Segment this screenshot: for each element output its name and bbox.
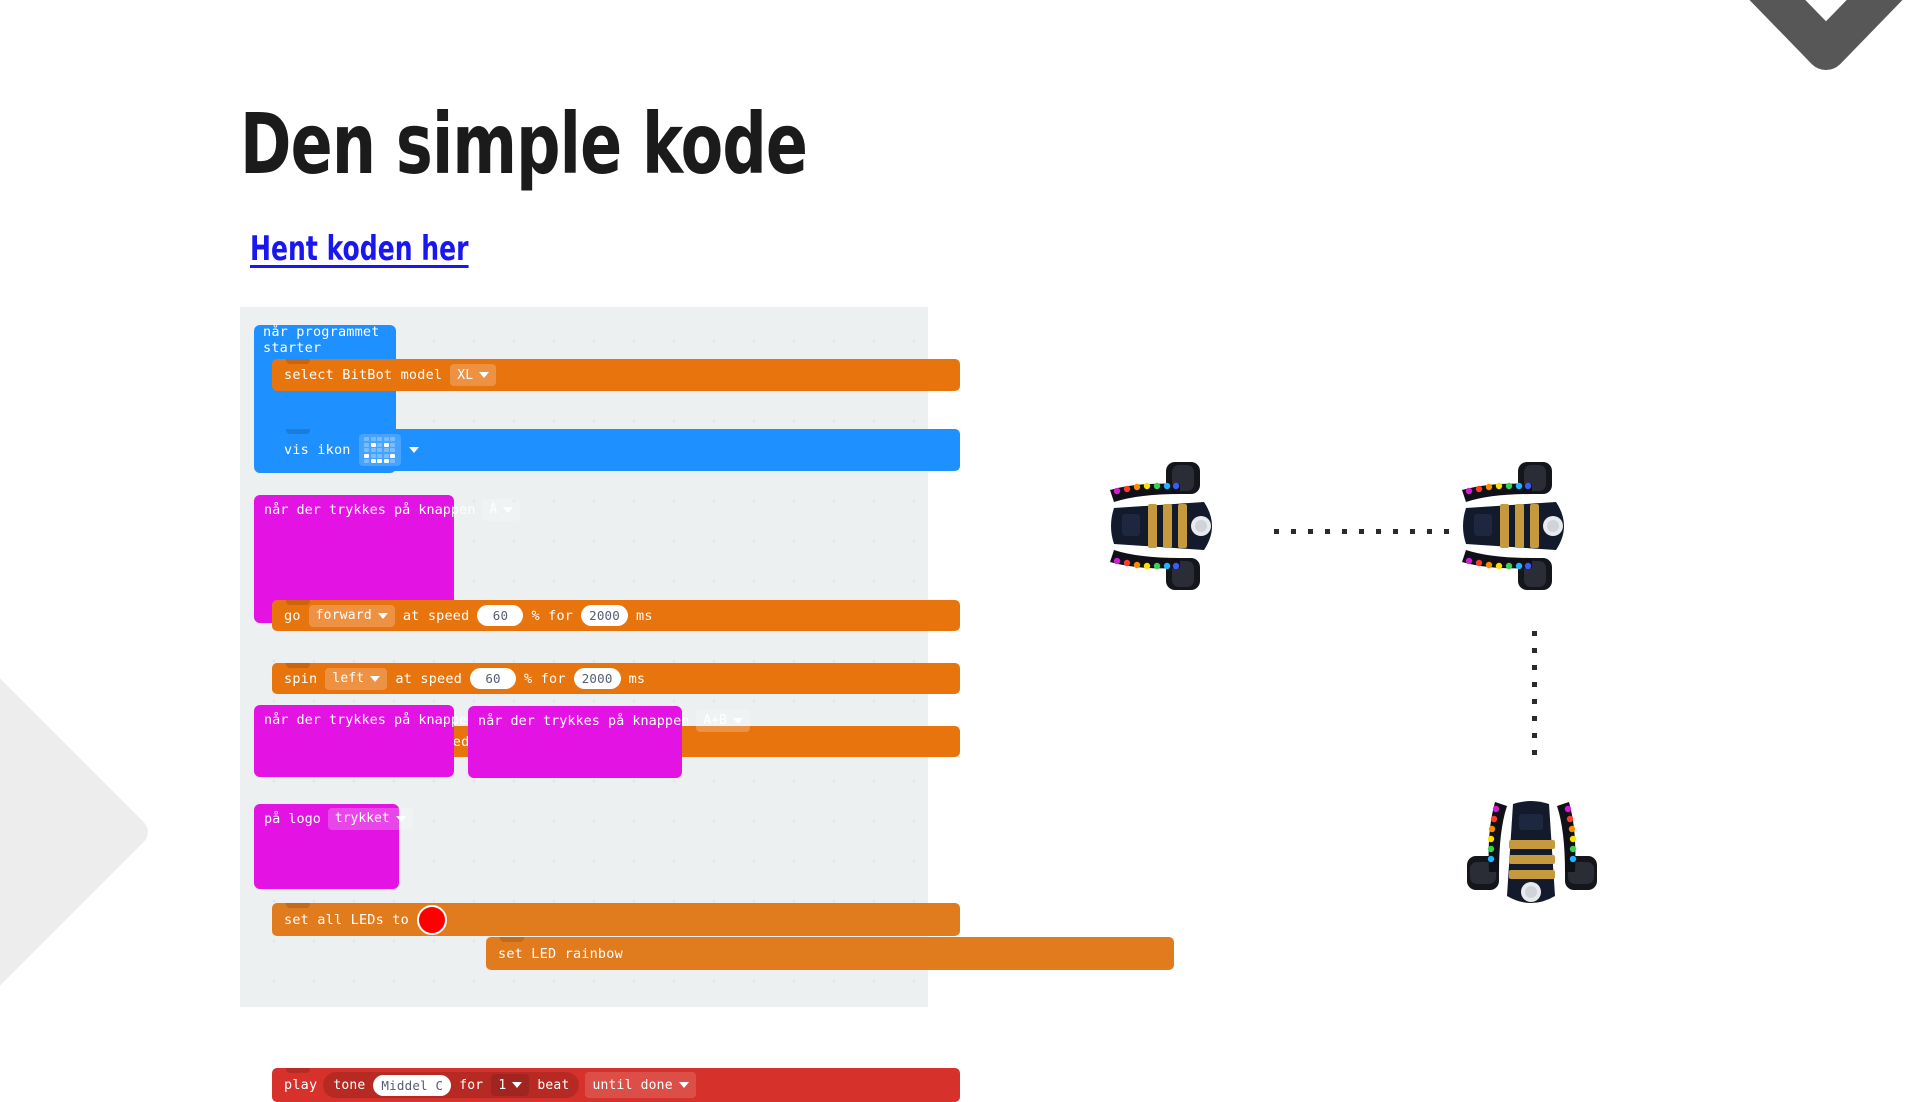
block-set-led-rainbow[interactable]: set LED rainbow [486,937,1174,970]
led-pixel [377,437,382,441]
chevron-down-icon [370,676,380,682]
dropdown-direction-1[interactable]: forward [309,605,395,627]
dropdown-beat-count[interactable]: 1 [491,1074,529,1096]
hat-label-on-start: når programmet starter [254,325,396,354]
led-matrix-smiley-icon[interactable] [359,434,401,466]
led-pixel [364,443,369,447]
makecode-canvas[interactable]: når programmet starter select BitBot mod… [240,307,928,1007]
hat-label-on-logo: på logo trykket [254,804,423,833]
bitbot-robot-left [1108,460,1233,595]
led-pixel [384,448,389,452]
led-pixel [364,459,369,463]
download-code-link[interactable]: Hent koden her [250,232,469,266]
hat-label-on-button-ab: når der trykkes på knappen A+B [468,706,760,735]
led-pixel [377,459,382,463]
dropdown-button-a[interactable]: A [482,499,520,521]
input-speed-1[interactable]: 60 [477,605,523,626]
led-pixel [371,437,376,441]
led-pixel [364,448,369,452]
led-pixel [377,448,382,452]
diamond-decoration [0,662,154,1001]
chevron-down-icon [503,507,513,513]
led-pixel [390,437,395,441]
dropdown-button-ab[interactable]: A+B [696,710,749,732]
block-set-all-leds[interactable]: set all LEDs to [272,903,960,936]
led-pixel [384,459,389,463]
dropdown-spin-direction[interactable]: left [325,668,387,690]
block-play-tone[interactable]: play tone Middel C for 1 beat until done [272,1068,960,1102]
block-select-bitbot-model[interactable]: select BitBot model XL [272,359,960,391]
hat-label-on-button-a: når der trykkes på knappen A [254,495,530,524]
page-title: Den simple kode [240,102,807,186]
block-vis-ikon[interactable]: vis ikon [272,429,960,471]
chevron-down-icon [733,718,743,724]
color-swatch-red[interactable] [417,905,447,935]
led-pixel [384,437,389,441]
input-note[interactable]: Middel C [373,1075,451,1096]
chevron-down-icon [1701,0,1911,172]
path-vertical [1532,631,1537,755]
block-spin-left[interactable]: spin left at speed 60 % for 2000 ms [272,663,960,694]
input-spin-duration[interactable]: 2000 [574,668,621,689]
input-spin-speed[interactable]: 60 [470,668,516,689]
dropdown-bitbot-model[interactable]: XL [450,364,496,386]
bitbot-robot-right [1460,460,1585,595]
chevron-down-icon[interactable] [409,447,419,453]
dropdown-until-done[interactable]: until done [585,1072,695,1098]
led-pixel [390,459,395,463]
led-pixel [371,454,376,458]
chevron-down-icon [679,1082,689,1088]
led-pixel [371,459,376,463]
led-pixel [364,454,369,458]
led-pixel [384,443,389,447]
tone-field-group[interactable]: tone Middel C for 1 beat [323,1072,579,1098]
led-pixel [377,454,382,458]
led-pixel [390,454,395,458]
led-pixel [390,443,395,447]
chevron-down-icon [479,372,489,378]
path-horizontal [1274,529,1449,534]
led-pixel [371,448,376,452]
bitbot-robot-bottom [1465,800,1600,925]
led-pixel [384,454,389,458]
led-pixel [377,443,382,447]
led-pixel [364,437,369,441]
led-pixel [390,448,395,452]
chevron-down-icon [396,816,406,822]
chevron-down-icon [378,613,388,619]
chevron-down-icon [512,1082,522,1088]
block-go-forward-1[interactable]: go forward at speed 60 % for 2000 ms [272,600,960,631]
led-pixel [371,443,376,447]
dropdown-logo-action[interactable]: trykket [328,808,413,830]
input-duration-1[interactable]: 2000 [581,605,628,626]
